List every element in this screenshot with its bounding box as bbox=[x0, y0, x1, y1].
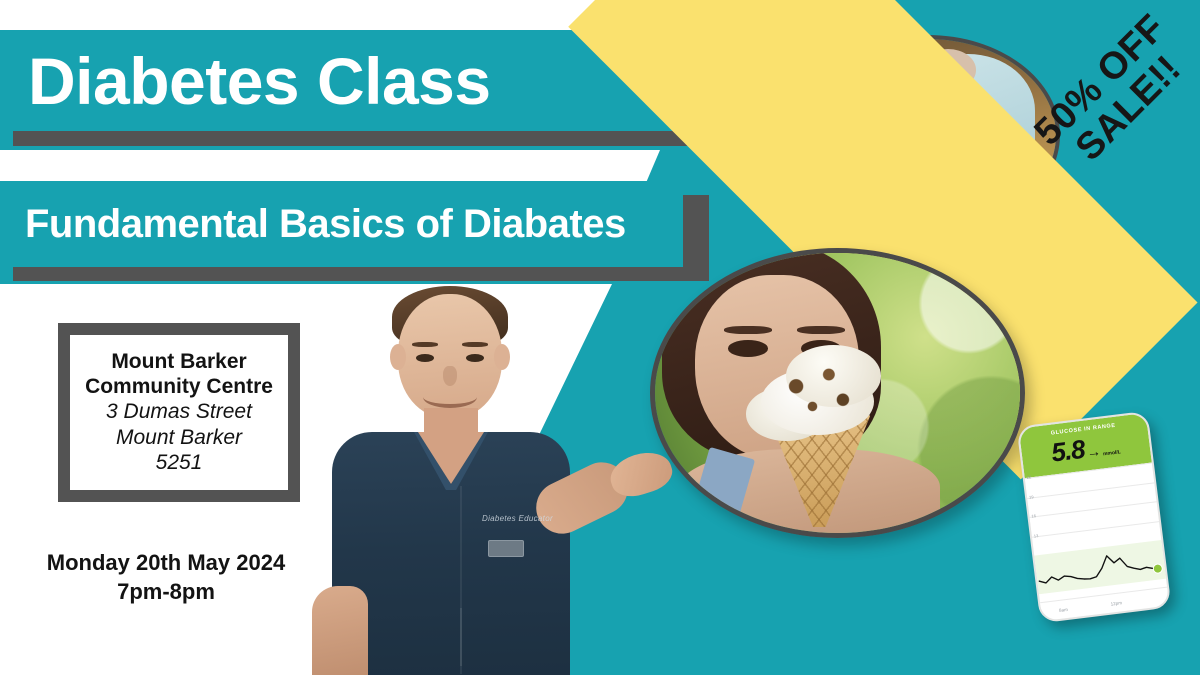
venue-address-box: Mount Barker Community Centre 3 Dumas St… bbox=[58, 323, 300, 502]
venue-street: 3 Dumas Street bbox=[106, 399, 252, 424]
x-tick-label: 12pm bbox=[1110, 600, 1122, 606]
event-date: Monday 20th May 2024 bbox=[28, 548, 304, 577]
event-time: 7pm-8pm bbox=[28, 577, 304, 606]
subtitle-banner: Fundamental Basics of Diabates bbox=[0, 181, 683, 267]
glucose-trace-line bbox=[1025, 463, 1168, 608]
x-tick-label: 8am bbox=[1059, 606, 1068, 612]
venue-name-line-1: Mount Barker bbox=[111, 350, 246, 375]
page-subtitle: Fundamental Basics of Diabates bbox=[25, 202, 626, 247]
venue-name-line-2: Community Centre bbox=[85, 375, 273, 400]
flyer-canvas: Diabetes Class Fundamental Basics of Dia… bbox=[0, 0, 1200, 675]
venue-suburb: Mount Barker bbox=[116, 425, 242, 450]
glucose-monitor-phone: GLUCOSE IN RANGE 5.8 → mmol/L 22191613 8… bbox=[1016, 411, 1171, 624]
icecream-photo-icon bbox=[650, 248, 1025, 538]
scrub-embroidery-text: Diabetes Educator bbox=[482, 514, 578, 526]
glucose-value: 5.8 bbox=[1050, 434, 1087, 469]
schedule-block: Monday 20th May 2024 7pm-8pm bbox=[28, 548, 304, 606]
glucose-units: mmol/L bbox=[1103, 449, 1121, 457]
page-title: Diabetes Class bbox=[28, 43, 491, 119]
presenter-figure: Diabetes Educator bbox=[310, 286, 610, 675]
white-wedge-top bbox=[0, 0, 660, 32]
icecream-photo-art bbox=[655, 253, 1020, 533]
venue-postcode: 5251 bbox=[156, 450, 203, 475]
title-banner: Diabetes Class bbox=[0, 30, 683, 131]
presenter-name-badge bbox=[488, 540, 524, 557]
glucose-chart: 22191613 bbox=[1025, 463, 1168, 608]
trend-arrow-icon: → bbox=[1086, 443, 1102, 461]
